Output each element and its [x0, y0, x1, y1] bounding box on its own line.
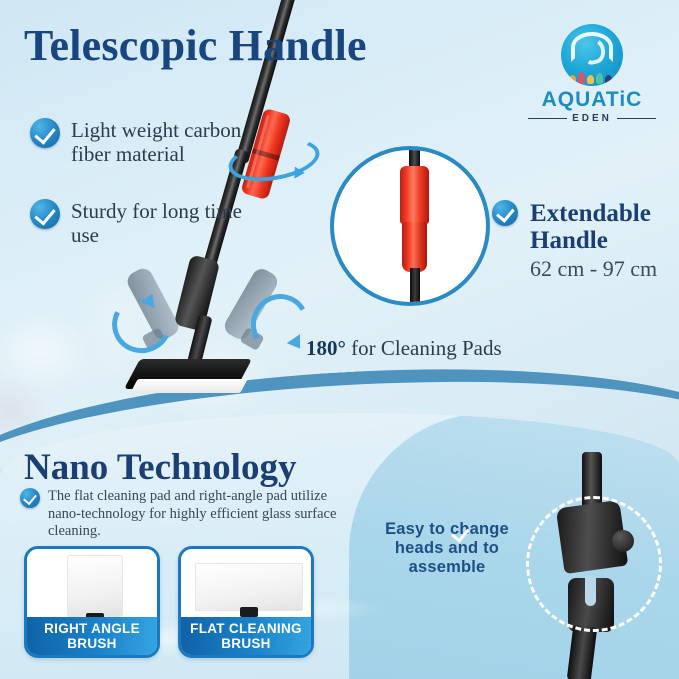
- card-flat-cleaning-label: FLAT CLEANING BRUSH: [181, 617, 311, 655]
- inset-grip-lower: [402, 222, 427, 272]
- nano-technology-title: Nano Technology: [24, 448, 296, 488]
- right-angle-pad-shape: [67, 555, 123, 617]
- reef-shapes: [561, 62, 623, 86]
- rule-right: [617, 118, 656, 120]
- easy-to-change-callout: Easy to change heads and to assemble: [362, 520, 532, 577]
- grip-zoom-inset: [330, 146, 490, 306]
- brand-sub-wrap: EDEN: [528, 113, 656, 124]
- check-icon: [492, 200, 518, 226]
- inset-pole-bottom: [410, 268, 420, 306]
- inset-grip-upper: [400, 166, 429, 224]
- pads-rotation-callout: 180° for Cleaning Pads: [306, 336, 502, 361]
- card-right-angle-label: RIGHT ANGLE BRUSH: [27, 617, 157, 655]
- mop-head-illustration: [120, 255, 310, 400]
- infographic-canvas: AQUATiC EDEN Telescopic Handle Light wei…: [0, 0, 679, 679]
- aquarium-wave-icon: [561, 24, 623, 86]
- right-angle-brush-image: [27, 549, 157, 623]
- bullet-sturdy-label: Sturdy for long time use: [71, 199, 260, 247]
- flat-pad-clip: [240, 607, 258, 617]
- bullet-light-weight-label: Light weight carbon fiber material: [71, 118, 260, 166]
- joint-lower-pole: [567, 625, 598, 679]
- extendable-heading: Extendable Handle: [530, 200, 651, 254]
- extendable-handle-callout: Extendable Handle 62 cm - 97 cm: [492, 200, 679, 282]
- dashed-highlight-circle: [526, 496, 662, 632]
- brand-name: AQUATiC: [528, 88, 656, 112]
- brush-cards: RIGHT ANGLE BRUSH FLAT CLEANING BRUSH: [24, 546, 314, 658]
- mop-cleaning-pad: [130, 379, 247, 393]
- nano-paragraph-block: The flat cleaning pad and right-angle pa…: [20, 488, 350, 541]
- check-icon: [30, 118, 60, 148]
- flat-pad-shape: [195, 563, 303, 611]
- easy-to-change-label: Easy to change heads and to assemble: [362, 520, 532, 577]
- bullet-light-weight: Light weight carbon fiber material: [30, 118, 260, 166]
- brand-subname: EDEN: [572, 113, 612, 124]
- brand-logo: AQUATiC EDEN: [528, 24, 656, 124]
- card-right-angle-brush[interactable]: RIGHT ANGLE BRUSH: [24, 546, 160, 658]
- pads-degrees: 180°: [306, 336, 346, 360]
- telescopic-handle-title: Telescopic Handle: [24, 22, 367, 70]
- nano-paragraph: The flat cleaning pad and right-angle pa…: [48, 488, 350, 541]
- bullet-sturdy: Sturdy for long time use: [30, 199, 260, 247]
- detachable-head-illustration: [520, 452, 679, 679]
- extendable-range: 62 cm - 97 cm: [530, 256, 679, 282]
- rule-left: [528, 118, 567, 120]
- flat-cleaning-brush-image: [181, 549, 311, 623]
- check-icon: [30, 199, 60, 229]
- pads-rest: for Cleaning Pads: [346, 336, 502, 360]
- check-icon: [20, 488, 40, 508]
- card-flat-cleaning-brush[interactable]: FLAT CLEANING BRUSH: [178, 546, 314, 658]
